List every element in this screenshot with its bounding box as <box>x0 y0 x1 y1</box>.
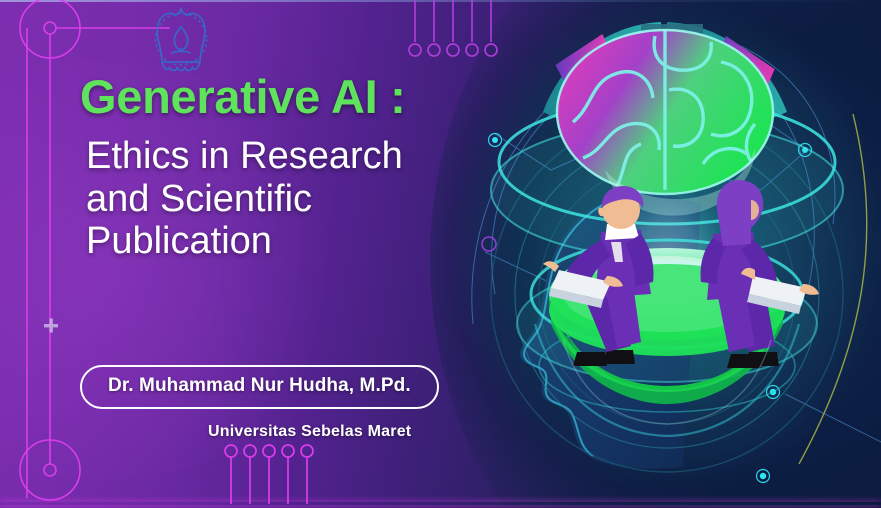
subtitle-line-1: Ethics in Research <box>86 135 500 178</box>
uns-university-logo <box>143 4 219 80</box>
subtitle-line-3: Publication <box>86 220 500 263</box>
ai-brain-illustration <box>455 0 881 508</box>
presentation-slide: Generative AI : Ethics in Research and S… <box>0 0 881 508</box>
page-title-accent: Generative AI : <box>80 72 500 121</box>
title-block: Generative AI : Ethics in Research and S… <box>80 72 500 263</box>
speaker-name-pill: Dr. Muhammad Nur Hudha, M.Pd. <box>80 365 439 409</box>
affiliation-label: Universitas Sebelas Maret <box>208 423 411 441</box>
subtitle-line-2: and Scientific <box>86 178 500 221</box>
crosshair-marker <box>44 319 58 333</box>
bottom-pin-decoration <box>225 445 313 504</box>
page-subtitle: Ethics in Research and Scientific Public… <box>86 135 500 263</box>
